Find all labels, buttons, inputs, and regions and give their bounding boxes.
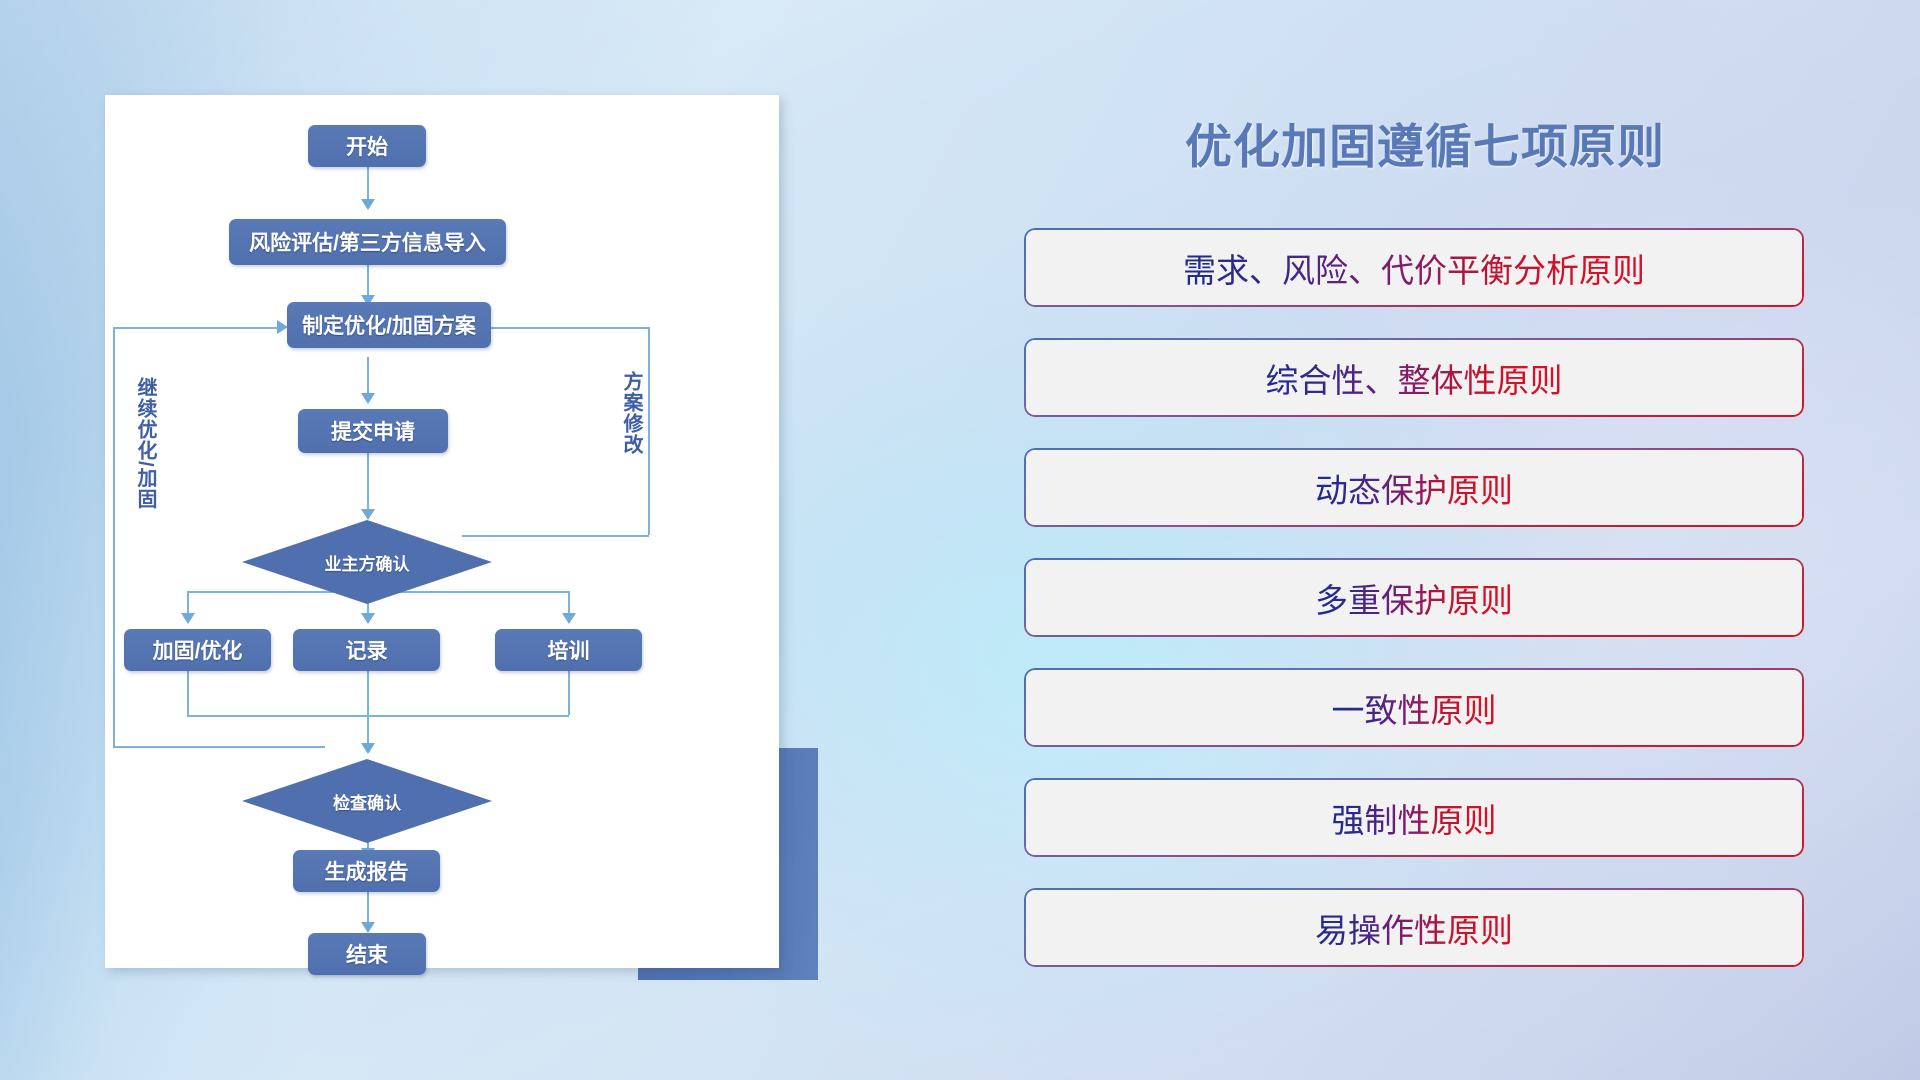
principle-card-1[interactable]: 需求、风险、代价平衡分析原则 [1024, 228, 1804, 307]
principle-card-4[interactable]: 多重保护原则 [1024, 558, 1804, 637]
principle-card-4-label: 多重保护原则 [1315, 574, 1513, 622]
flow-node-reinforce-optimize[interactable]: 加固/优化 [124, 629, 271, 671]
principle-card-6[interactable]: 强制性原则 [1024, 778, 1804, 857]
principle-card-7-label: 易操作性原则 [1315, 904, 1513, 952]
principle-card-4-inner: 多重保护原则 [1026, 560, 1802, 635]
flow-node-risk-assessment[interactable]: 风险评估/第三方信息导入 [229, 219, 506, 265]
edge-label-plan-revision: 方案修改 [617, 371, 646, 455]
principle-card-3[interactable]: 动态保护原则 [1024, 448, 1804, 527]
arrowhead-to-reinforce [181, 613, 195, 624]
principles-card-list: 需求、风险、代价平衡分析原则 综合性、整体性原则 动态保护原则 多重保护原则 一… [1024, 228, 1804, 998]
principle-card-2-label: 综合性、整体性原则 [1266, 354, 1563, 402]
connector-training-down [568, 671, 570, 715]
principle-card-7-inner: 易操作性原则 [1026, 890, 1802, 965]
principle-card-2[interactable]: 综合性、整体性原则 [1024, 338, 1804, 417]
principles-title: 优化加固遵循七项原则 [1030, 108, 1820, 177]
principle-card-5-label: 一致性原则 [1332, 684, 1497, 732]
flow-node-end[interactable]: 结束 [308, 933, 426, 975]
flow-node-training[interactable]: 培训 [495, 629, 642, 671]
edge-label-continue-optimize: 继续优化/加固 [131, 377, 160, 510]
arrowhead-start-to-risk [361, 199, 375, 210]
principle-card-5[interactable]: 一致性原则 [1024, 668, 1804, 747]
principle-card-2-inner: 综合性、整体性原则 [1026, 340, 1802, 415]
flow-node-generate-report[interactable]: 生成报告 [293, 850, 440, 892]
connector-reinforce-down [187, 671, 189, 715]
connector-left-loop-bottom [113, 746, 325, 748]
principle-card-3-label: 动态保护原则 [1315, 464, 1513, 512]
principle-card-6-inner: 强制性原则 [1026, 780, 1802, 855]
arrowhead-to-training [562, 613, 576, 624]
flow-node-record[interactable]: 记录 [293, 629, 440, 671]
connector-left-loop-vertical [113, 327, 115, 747]
connector-submit-to-owner [367, 453, 369, 515]
flow-node-submit-application[interactable]: 提交申请 [298, 409, 448, 453]
flow-node-check-confirm[interactable]: 检查确认 [242, 759, 492, 843]
connector-right-loop-bottom [462, 535, 649, 537]
arrowhead-merge-to-check [361, 743, 375, 754]
connector-record-to-check [367, 671, 369, 749]
principle-card-6-label: 强制性原则 [1332, 794, 1497, 842]
principle-card-7[interactable]: 易操作性原则 [1024, 888, 1804, 967]
principle-card-3-inner: 动态保护原则 [1026, 450, 1802, 525]
arrowhead-plan-to-submit [361, 393, 375, 404]
flow-node-plan[interactable]: 制定优化/加固方案 [287, 302, 491, 348]
arrowhead-submit-to-owner [361, 509, 375, 520]
principle-card-1-inner: 需求、风险、代价平衡分析原则 [1026, 230, 1802, 305]
flowchart-panel: 开始 风险评估/第三方信息导入 制定优化/加固方案 提交申请 业主方确认 加固/… [105, 95, 779, 968]
connector-merge-bus [187, 715, 569, 717]
flow-node-start[interactable]: 开始 [308, 125, 426, 167]
principle-card-5-inner: 一致性原则 [1026, 670, 1802, 745]
principle-card-1-label: 需求、风险、代价平衡分析原则 [1183, 244, 1645, 292]
arrowhead-report-to-end [361, 922, 375, 933]
arrowhead-to-record [361, 613, 375, 624]
connector-right-loop-vertical [648, 327, 650, 535]
connector-left-loop-top [113, 327, 285, 329]
